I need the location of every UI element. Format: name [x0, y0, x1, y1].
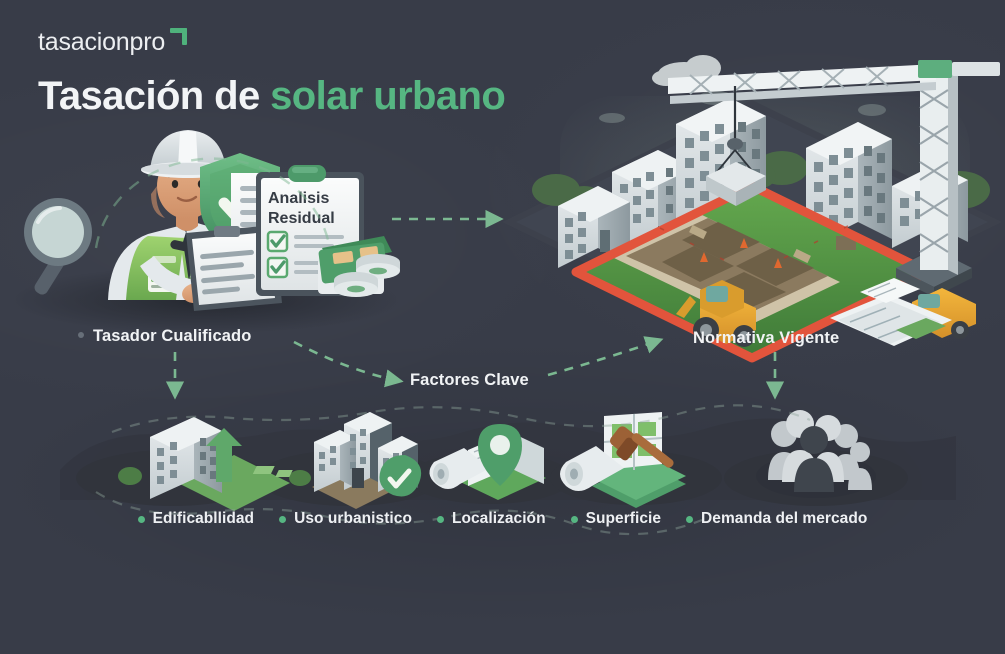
feature-label-uso: Uso urbanistico	[294, 510, 412, 528]
feature-icons-strip	[60, 410, 956, 511]
tree-icon	[532, 151, 990, 214]
bullet-dot-icon	[138, 516, 145, 523]
feature-label-edificabilidad: Edificabllidad	[153, 510, 254, 528]
blueprint-icon	[830, 278, 952, 346]
feature-label-localizacion: Localización	[452, 510, 546, 528]
clipboard-icon	[186, 225, 282, 311]
truck-icon	[888, 280, 976, 339]
infographic-canvas: tasacionpro Tasación de solar urbano	[0, 0, 1005, 654]
coins-icon	[334, 254, 400, 297]
building-up-arrow-icon	[118, 417, 290, 511]
node-label-factores: Factores Clave	[410, 371, 529, 390]
bullet-dot-icon	[571, 516, 578, 523]
tower-crane-icon	[668, 60, 1000, 297]
feature-label-superficie: Superficie	[586, 510, 661, 528]
buildings-check-icon	[289, 412, 421, 509]
link-factores-to-normativa	[548, 340, 660, 375]
brand-logo: tasacionpro	[38, 30, 187, 55]
page-title-accent: solar urbano	[270, 74, 505, 118]
people-group-icon	[756, 410, 876, 498]
doc-line-2: Residual	[268, 210, 335, 227]
money-stack-icon	[318, 236, 392, 294]
feature-item-demanda: Demanda del mercado	[686, 510, 867, 528]
document-icon	[231, 173, 303, 291]
apartment-buildings-icon	[558, 98, 968, 268]
logo-wordmark: tasacionpro	[38, 30, 165, 55]
appraiser-figure	[108, 130, 272, 305]
link-tasador-to-factores	[294, 342, 400, 381]
node-label-factores-text: Factores Clave	[410, 371, 529, 389]
shield-check-icon	[200, 153, 280, 253]
feature-item-edificabilidad: Edificabllidad	[138, 510, 254, 528]
doc-line-1: Analisis	[268, 190, 329, 207]
bullet-dot-icon	[437, 516, 444, 523]
analisis-residual-board: Analisis Residual	[256, 165, 364, 296]
bullet-dot-icon	[279, 516, 286, 523]
feature-item-uso: Uso urbanistico	[279, 510, 412, 528]
node-label-normativa-text: Normativa Vigente	[693, 329, 839, 347]
magnifier-icon	[24, 198, 92, 297]
feature-item-superficie: Superficie	[571, 510, 661, 528]
construction-site-illustration	[502, 55, 1002, 358]
node-label-normativa: Normativa Vigente	[693, 329, 839, 348]
map-pin-icon	[253, 424, 546, 500]
node-label-tasador: Tasador Cualificado	[78, 327, 251, 346]
node-dot-icon	[78, 332, 84, 338]
appraiser-illustration: Analisis Residual	[10, 130, 400, 334]
bullet-dot-icon	[686, 516, 693, 523]
row-path-upper	[112, 405, 810, 432]
decorative-arc	[96, 159, 328, 248]
gavel-map-icon	[560, 412, 686, 508]
page-title-plain: Tasación de	[38, 74, 270, 118]
page-title: Tasación de solar urbano	[38, 74, 505, 118]
feature-label-demanda: Demanda del mercado	[701, 510, 867, 528]
feature-item-localizacion: Localización	[437, 510, 546, 528]
corner-bracket-icon	[168, 28, 187, 45]
cloud-icon	[652, 55, 721, 86]
feature-label-row: Edificabllidad Uso urbanistico Localizac…	[0, 505, 1005, 533]
node-label-tasador-text: Tasador Cualificado	[93, 327, 251, 345]
